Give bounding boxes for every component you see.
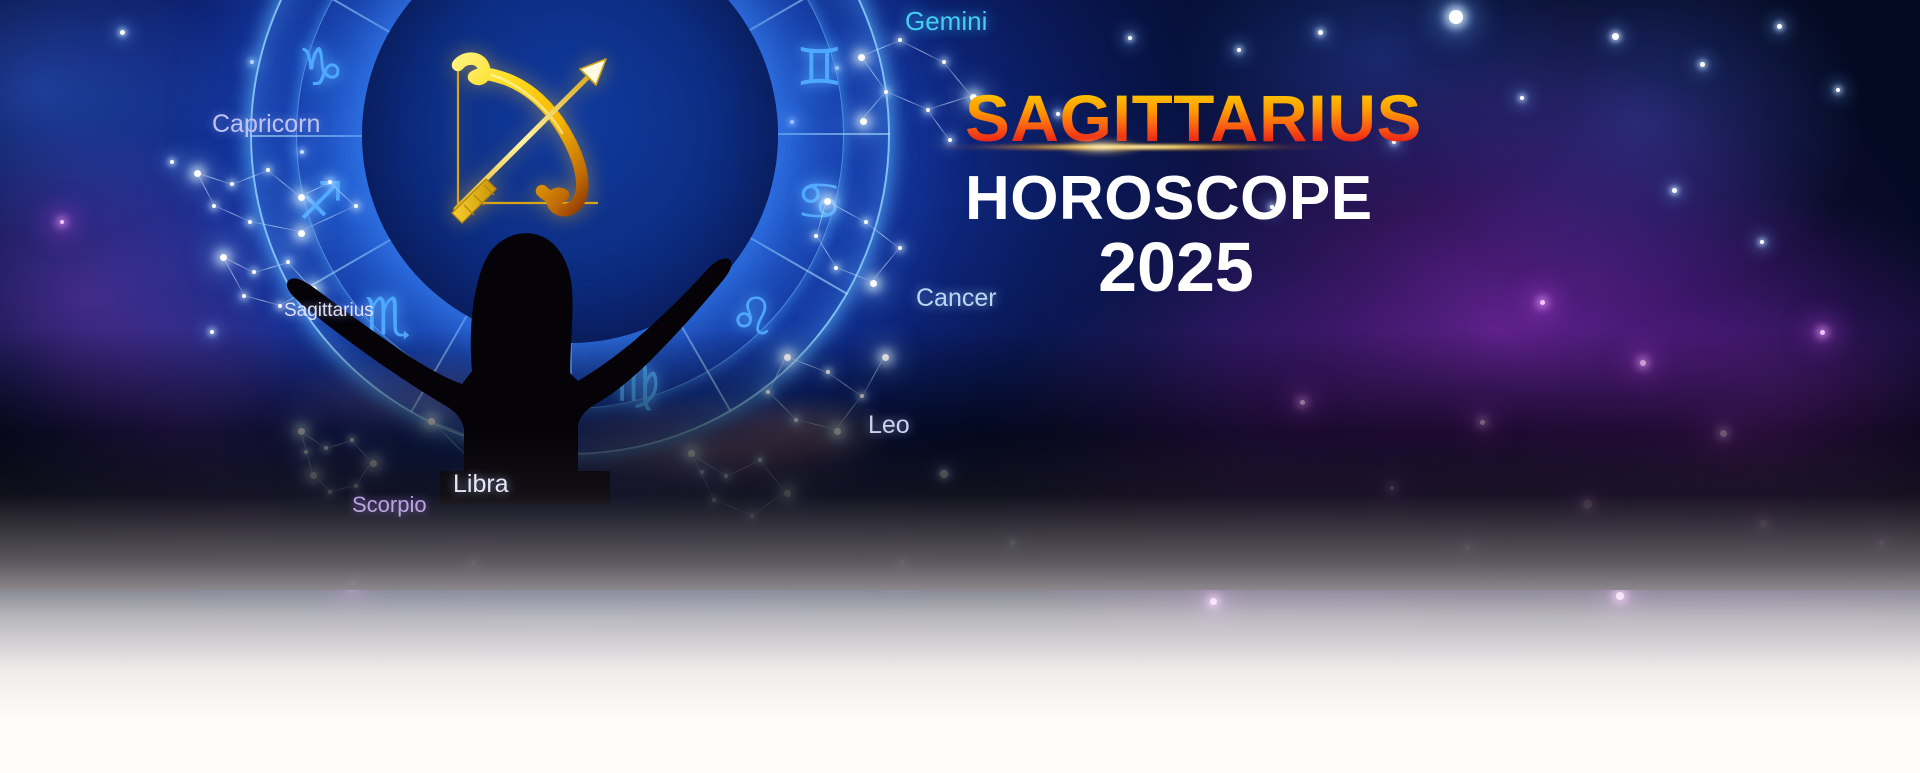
star — [60, 220, 64, 224]
star — [1520, 96, 1524, 100]
zodiac-label-capricorn: Capricorn — [212, 110, 320, 139]
sign-title: SAGITTARIUS — [965, 86, 1495, 151]
star — [1237, 48, 1241, 52]
year-heading: 2025 — [965, 232, 1485, 302]
star — [1449, 10, 1463, 24]
horoscope-banner: ♈♉♊♋♌♍♎♏♐♑♒♓ — [0, 0, 1920, 773]
capricorn-glyph: ♑ — [284, 31, 358, 105]
star — [1318, 30, 1323, 35]
background-bottom-fade — [0, 433, 1920, 773]
star — [1612, 33, 1619, 40]
gemini-glyph: ♊ — [782, 31, 856, 105]
star — [1540, 300, 1545, 305]
zodiac-label-gemini: Gemini — [905, 6, 987, 37]
star — [170, 160, 174, 164]
star — [1836, 88, 1840, 92]
title-block: SAGITTARIUS HOROSCOPE 2025 — [965, 86, 1485, 302]
star — [1760, 240, 1764, 244]
zodiac-label-sagittarius: Sagittarius — [284, 300, 374, 322]
star — [1672, 188, 1677, 193]
star — [120, 30, 125, 35]
star — [1700, 62, 1705, 67]
star — [1128, 36, 1132, 40]
horoscope-heading: HOROSCOPE — [965, 168, 1485, 230]
star — [1777, 24, 1782, 29]
